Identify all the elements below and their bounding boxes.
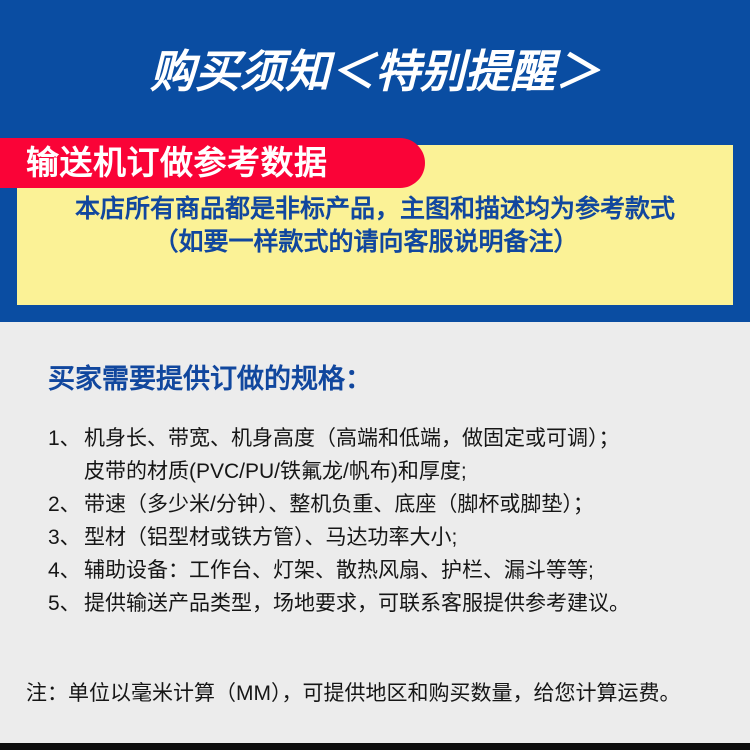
notice-text-block: 本店所有商品都是非标产品，主图和描述均为参考款式 （如要一样款式的请向客服说明备… xyxy=(17,193,733,259)
list-item: 1、 机身长、带宽、机身高度（高端和低端，做固定或可调）； 皮带的材质(PVC/… xyxy=(48,422,728,488)
list-item-number: 2、 xyxy=(48,488,84,521)
list-item-number: 1、 xyxy=(48,422,84,455)
notice-line-2: （如要一样款式的请向客服说明备注） xyxy=(21,226,729,259)
promotional-banner-page: 购买须知＜特别提醒＞ 本店所有商品都是非标产品，主图和描述均为参考款式 （如要一… xyxy=(0,0,750,750)
list-item-number: 4、 xyxy=(48,554,84,587)
list-item-text: 辅助设备：工作台、灯架、散热风扇、护栏、漏斗等等; xyxy=(84,554,728,587)
list-item-body: 辅助设备：工作台、灯架、散热风扇、护栏、漏斗等等; xyxy=(84,554,728,587)
list-item-body: 提供输送产品类型，场地要求，可联系客服提供参考建议。 xyxy=(84,587,728,620)
list-item-text: 带速（多少米/分钟）、整机负重、底座（脚杯或脚垫）； xyxy=(84,488,728,521)
list-item-body: 型材（铝型材或铁方管）、马达功率大小; xyxy=(84,521,728,554)
list-item: 3、 型材（铝型材或铁方管）、马达功率大小; xyxy=(48,521,728,554)
list-item-subtext: 皮带的材质(PVC/PU/铁氟龙/帆布)和厚度; xyxy=(84,455,728,488)
list-item-text: 提供输送产品类型，场地要求，可联系客服提供参考建议。 xyxy=(84,587,728,620)
top-blue-banner: 购买须知＜特别提醒＞ 本店所有商品都是非标产品，主图和描述均为参考款式 （如要一… xyxy=(0,0,750,322)
footnote: 注：单位以毫米计算（MM），可提供地区和购买数量，给您计算运费。 xyxy=(26,680,680,708)
list-item-body: 带速（多少米/分钟）、整机负重、底座（脚杯或脚垫）； xyxy=(84,488,728,521)
list-item-body: 机身长、带宽、机身高度（高端和低端，做固定或可调）； 皮带的材质(PVC/PU/… xyxy=(84,422,728,488)
list-item: 5、 提供输送产品类型，场地要求，可联系客服提供参考建议。 xyxy=(48,587,728,620)
bottom-divider xyxy=(0,743,750,750)
notice-line-1: 本店所有商品都是非标产品，主图和描述均为参考款式 xyxy=(21,193,729,226)
specs-content-area: 买家需要提供订做的规格： 1、 机身长、带宽、机身高度（高端和低端，做固定或可调… xyxy=(0,322,750,743)
spec-list: 1、 机身长、带宽、机身高度（高端和低端，做固定或可调）； 皮带的材质(PVC/… xyxy=(48,422,728,620)
page-title: 购买须知＜特别提醒＞ xyxy=(0,40,750,104)
red-badge: 输送机订做参考数据 xyxy=(0,138,425,188)
list-item-text: 型材（铝型材或铁方管）、马达功率大小; xyxy=(84,521,728,554)
list-item-number: 3、 xyxy=(48,521,84,554)
list-item: 2、 带速（多少米/分钟）、整机负重、底座（脚杯或脚垫）； xyxy=(48,488,728,521)
list-item-number: 5、 xyxy=(48,587,84,620)
section-heading: 买家需要提供订做的规格： xyxy=(48,364,372,394)
red-badge-label: 输送机订做参考数据 xyxy=(26,146,328,180)
list-item-text: 机身长、带宽、机身高度（高端和低端，做固定或可调）； xyxy=(84,422,728,455)
list-item: 4、 辅助设备：工作台、灯架、散热风扇、护栏、漏斗等等; xyxy=(48,554,728,587)
